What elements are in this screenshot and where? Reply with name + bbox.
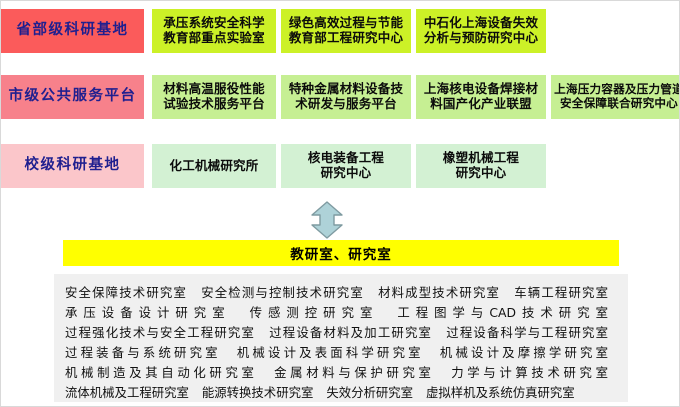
laboratory-item: 失效分析研究室 (326, 385, 413, 400)
node-line: 材料高温服役性能 (163, 82, 265, 97)
node-provincial-2: 绿色高效过程与节能教育部工程研究中心 (281, 9, 411, 53)
laboratory-item: 金属材料与保护研究室 (274, 365, 434, 380)
node-line: 特种金属材料设备技 (289, 82, 403, 97)
laboratory-item: 过程装备与系统研究室 (65, 345, 221, 360)
category-label-university: 校级科研基地 (1, 144, 144, 188)
node-line: 教育部工程研究中心 (289, 31, 403, 46)
diagram-canvas: 省部级科研基地 承压系统安全科学教育部重点实验室 绿色高效过程与节能教育部工程研… (0, 0, 680, 407)
node-line: 试验技术服务平台 (163, 97, 265, 112)
laboratory-item: 承压设备设计研究室 (65, 305, 231, 320)
node-line: 上海压力容器及压力管道 (554, 83, 680, 97)
node-line: 承压系统安全科学 (163, 16, 265, 31)
node-municipal-4: 上海压力容器及压力管道安全保障联合研究中心 (551, 75, 680, 119)
laboratory-list-block: 安全保障技术研究室 安全检测与控制技术研究室 材料成型技术研究室 车辆工程研究室… (54, 274, 628, 402)
node-university-3: 橡塑机械工程研究中心 (416, 144, 546, 188)
laboratory-item: 机械设计及摩擦学研究室 (440, 345, 608, 360)
laboratory-item: 工程图学与CAD技术研究室 (397, 305, 608, 320)
node-line: 化工机械研究所 (170, 159, 259, 174)
node-line: 教育部重点实验室 (163, 31, 265, 46)
node-municipal-3: 上海核电设备焊接材料国产化产业联盟 (416, 75, 546, 119)
node-university-2: 核电装备工程研究中心 (281, 144, 411, 188)
node-provincial-3: 中石化上海设备失效分析与预防研究中心 (416, 9, 546, 53)
laboratory-item: 过程强化技术与安全工程研究室 (65, 325, 255, 340)
node-line: 核电装备工程 (308, 151, 384, 166)
laboratory-item: 流体机械及工程研究室 (65, 385, 189, 400)
laboratory-item: 过程设备科学与工程研究室 (446, 325, 608, 340)
node-line: 上海核电设备焊接材 (424, 82, 538, 97)
node-line: 橡塑机械工程 (443, 151, 519, 166)
node-line: 研究中心 (308, 166, 384, 181)
node-municipal-1: 材料高温服役性能试验技术服务平台 (152, 75, 276, 119)
node-line: 研究中心 (443, 166, 519, 181)
laboratory-item: 过程设备材料及加工研究室 (269, 325, 432, 340)
laboratory-item: 机械设计及表面科学研究室 (237, 345, 424, 360)
node-municipal-2: 特种金属材料设备技术研发与服务平台 (281, 75, 411, 119)
node-line: 安全保障联合研究中心 (554, 97, 680, 111)
teaching-research-rooms-bar: 教研室、研究室 (63, 240, 619, 266)
laboratory-item: 机械制造及其自动化研究室 (65, 365, 258, 380)
category-label-provincial: 省部级科研基地 (1, 9, 144, 53)
node-provincial-1: 承压系统安全科学教育部重点实验室 (152, 9, 276, 53)
node-university-1: 化工机械研究所 (152, 144, 276, 188)
laboratory-item: 安全保障技术研究室 (65, 285, 187, 300)
node-line: 料国产化产业联盟 (424, 97, 538, 112)
node-line: 中石化上海设备失效 (424, 16, 538, 31)
laboratory-item: 车辆工程研究室 (514, 285, 608, 300)
node-line: 术研发与服务平台 (289, 97, 403, 112)
category-label-municipal: 市级公共服务平台 (1, 75, 144, 119)
node-line: 绿色高效过程与节能 (289, 16, 403, 31)
laboratory-item: 材料成型技术研究室 (378, 285, 500, 300)
double-arrow-vertical-icon (309, 201, 345, 239)
laboratory-item: 能源转换技术研究室 (202, 385, 314, 400)
laboratory-item: 虚拟样机及系统仿真研究室 (426, 385, 575, 400)
laboratory-item: 力学与计算技术研究室 (451, 365, 608, 380)
laboratory-item: 传感测控研究室 (250, 305, 379, 320)
node-line: 分析与预防研究中心 (424, 31, 538, 46)
laboratory-item: 安全检测与控制技术研究室 (201, 285, 364, 300)
